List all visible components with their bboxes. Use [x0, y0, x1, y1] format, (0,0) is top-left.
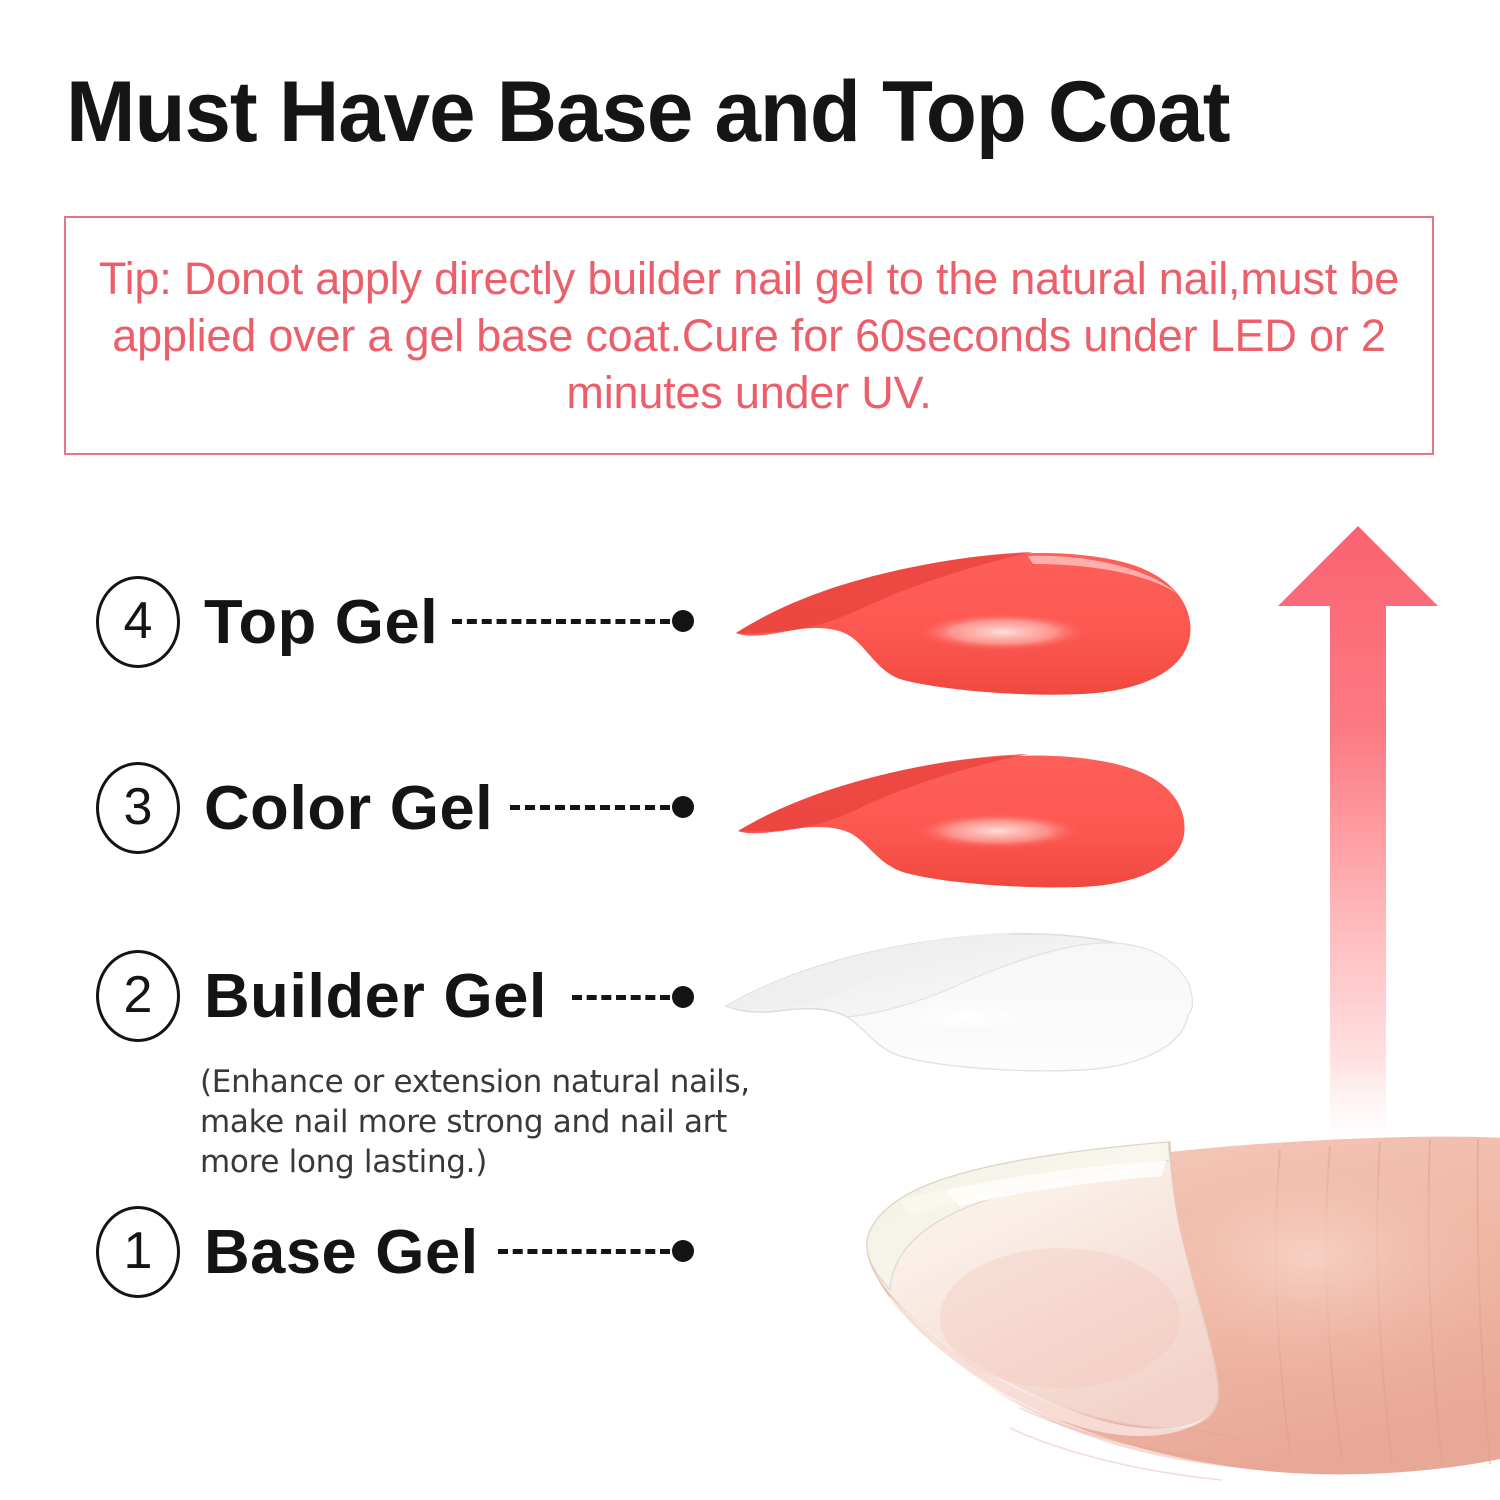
step-number-badge-1: 1: [96, 1206, 180, 1298]
page-title: Must Have Base and Top Coat: [66, 62, 1405, 162]
product-infographic: Must Have Base and Top Coat Tip: Donot a…: [0, 0, 1500, 1500]
step-number-badge-4: 4: [96, 576, 180, 668]
leader-line-3: [510, 804, 694, 810]
leader-dash-icon: [498, 1249, 670, 1254]
leader-dash-icon: [572, 995, 670, 1000]
step-1: 1 Base Gel: [96, 1206, 473, 1298]
leader-line-2: [572, 994, 694, 1000]
arrow-up-icon: [1272, 520, 1444, 1160]
step-4: 4 Top Gel: [96, 576, 434, 668]
step-label-builder-gel: Builder Gel: [204, 961, 547, 1032]
leader-dot-icon: [672, 610, 694, 632]
step-number-badge-3: 3: [96, 762, 180, 854]
leader-dash-icon: [452, 619, 670, 624]
color-gel-swatch: [730, 735, 1192, 895]
leader-dot-icon: [672, 796, 694, 818]
builder-gel-note: (Enhance or extension natural nails, mak…: [200, 1062, 780, 1182]
leader-line-1: [498, 1248, 694, 1254]
step-label-color-gel: Color Gel: [204, 773, 493, 844]
leader-dot-icon: [672, 986, 694, 1008]
step-number-badge-2: 2: [96, 950, 180, 1042]
builder-gel-swatch: [716, 920, 1226, 1080]
step-label-base-gel: Base Gel: [204, 1217, 479, 1288]
leader-dot-icon: [672, 1240, 694, 1262]
leader-dash-icon: [510, 805, 670, 810]
leader-line-4: [452, 618, 694, 624]
fingertip-image: [770, 1128, 1500, 1500]
top-gel-swatch: [728, 528, 1198, 708]
step-2: 2 Builder Gel: [96, 950, 540, 1042]
step-3: 3 Color Gel: [96, 762, 488, 854]
tip-box: Tip: Donot apply directly builder nail g…: [64, 216, 1434, 455]
step-label-top-gel: Top Gel: [204, 587, 438, 658]
tip-text: Tip: Donot apply directly builder nail g…: [66, 250, 1432, 421]
